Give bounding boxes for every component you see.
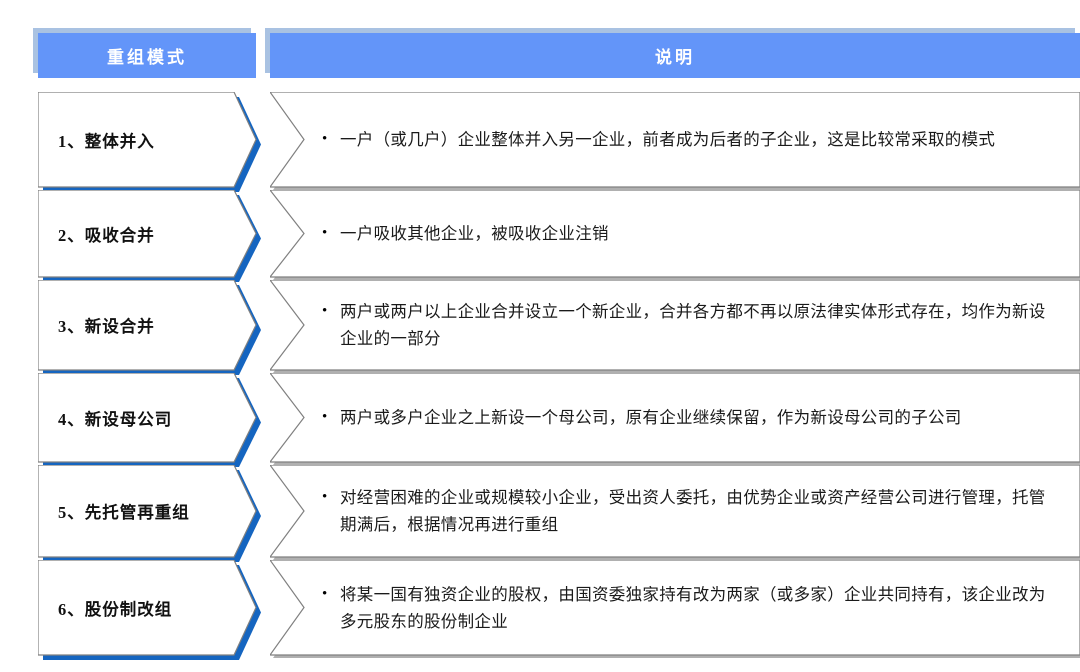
row-label-text: 3、新设合并	[38, 280, 234, 370]
row-description-shape[interactable]: •将某一国有独资企业的股权，由国资委独家持有改为两家（或多家）企业共同持有，该企…	[270, 560, 1080, 655]
row-label-text: 2、吸收合并	[38, 190, 234, 277]
row-description-body: •一户（或几户）企业整体并入另一企业，前者成为后者的子企业，这是比较常采取的模式	[320, 92, 1058, 187]
diagram-row: 1、整体并入•一户（或几户）企业整体并入另一企业，前者成为后者的子企业，这是比较…	[0, 92, 1080, 187]
row-description-shape[interactable]: •两户或多户企业之上新设一个母公司，原有企业继续保留，作为新设母公司的子公司	[270, 373, 1080, 462]
row-label-text: 4、新设母公司	[38, 373, 234, 462]
row-label-shape[interactable]: 2、吸收合并	[38, 190, 256, 277]
diagram-canvas: 重组模式 说明 1、整体并入•一户（或几户）企业整体并入另一企业，前者成为后者的…	[0, 0, 1080, 672]
header-right: 说明	[270, 33, 1080, 78]
diagram-row: 3、新设合并•两户或两户以上企业合并设立一个新企业，合并各方都不再以原法律实体形…	[0, 280, 1080, 370]
row-description-body: •对经营困难的企业或规模较小企业，受出资人委托，由优势企业或资产经营公司进行管理…	[320, 465, 1058, 557]
row-label-shape[interactable]: 4、新设母公司	[38, 373, 256, 462]
row-description-text: 将某一国有独资企业的股权，由国资委独家持有改为两家（或多家）企业共同持有，该企业…	[340, 581, 1058, 635]
diagram-row: 2、吸收合并•一户吸收其他企业，被吸收企业注销	[0, 190, 1080, 277]
row-description-text: 一户吸收其他企业，被吸收企业注销	[340, 220, 1058, 247]
row-description-shape[interactable]: •一户吸收其他企业，被吸收企业注销	[270, 190, 1080, 277]
row-description-text: 两户或两户以上企业合并设立一个新企业，合并各方都不再以原法律实体形式存在，均作为…	[340, 298, 1058, 352]
row-label-shape[interactable]: 6、股份制改组	[38, 560, 256, 655]
bullet-icon: •	[320, 126, 340, 153]
row-description-shape[interactable]: •一户（或几户）企业整体并入另一企业，前者成为后者的子企业，这是比较常采取的模式	[270, 92, 1080, 187]
row-description-body: •两户或两户以上企业合并设立一个新企业，合并各方都不再以原法律实体形式存在，均作…	[320, 280, 1058, 370]
diagram-row: 4、新设母公司•两户或多户企业之上新设一个母公司，原有企业继续保留，作为新设母公…	[0, 373, 1080, 462]
row-description-shape[interactable]: •对经营困难的企业或规模较小企业，受出资人委托，由优势企业或资产经营公司进行管理…	[270, 465, 1080, 557]
row-label-text: 6、股份制改组	[38, 560, 234, 655]
row-description-body: •两户或多户企业之上新设一个母公司，原有企业继续保留，作为新设母公司的子公司	[320, 373, 1058, 462]
row-label-shape[interactable]: 1、整体并入	[38, 92, 256, 187]
row-label-text: 1、整体并入	[38, 92, 234, 187]
bullet-icon: •	[320, 581, 340, 608]
bullet-icon: •	[320, 484, 340, 511]
row-description-text: 一户（或几户）企业整体并入另一企业，前者成为后者的子企业，这是比较常采取的模式	[340, 126, 1058, 153]
row-description-text: 两户或多户企业之上新设一个母公司，原有企业继续保留，作为新设母公司的子公司	[340, 404, 1058, 431]
row-label-shape[interactable]: 3、新设合并	[38, 280, 256, 370]
row-description-text: 对经营困难的企业或规模较小企业，受出资人委托，由优势企业或资产经营公司进行管理，…	[340, 484, 1058, 538]
row-description-shape[interactable]: •两户或两户以上企业合并设立一个新企业，合并各方都不再以原法律实体形式存在，均作…	[270, 280, 1080, 370]
bullet-icon: •	[320, 404, 340, 431]
header-left: 重组模式	[38, 33, 256, 78]
diagram-row: 6、股份制改组•将某一国有独资企业的股权，由国资委独家持有改为两家（或多家）企业…	[0, 560, 1080, 655]
row-description-body: •将某一国有独资企业的股权，由国资委独家持有改为两家（或多家）企业共同持有，该企…	[320, 560, 1058, 655]
diagram-row: 5、先托管再重组•对经营困难的企业或规模较小企业，受出资人委托，由优势企业或资产…	[0, 465, 1080, 557]
row-description-body: •一户吸收其他企业，被吸收企业注销	[320, 190, 1058, 277]
bullet-icon: •	[320, 220, 340, 247]
row-label-shape[interactable]: 5、先托管再重组	[38, 465, 256, 557]
row-label-text: 5、先托管再重组	[38, 465, 234, 557]
bullet-icon: •	[320, 298, 340, 325]
